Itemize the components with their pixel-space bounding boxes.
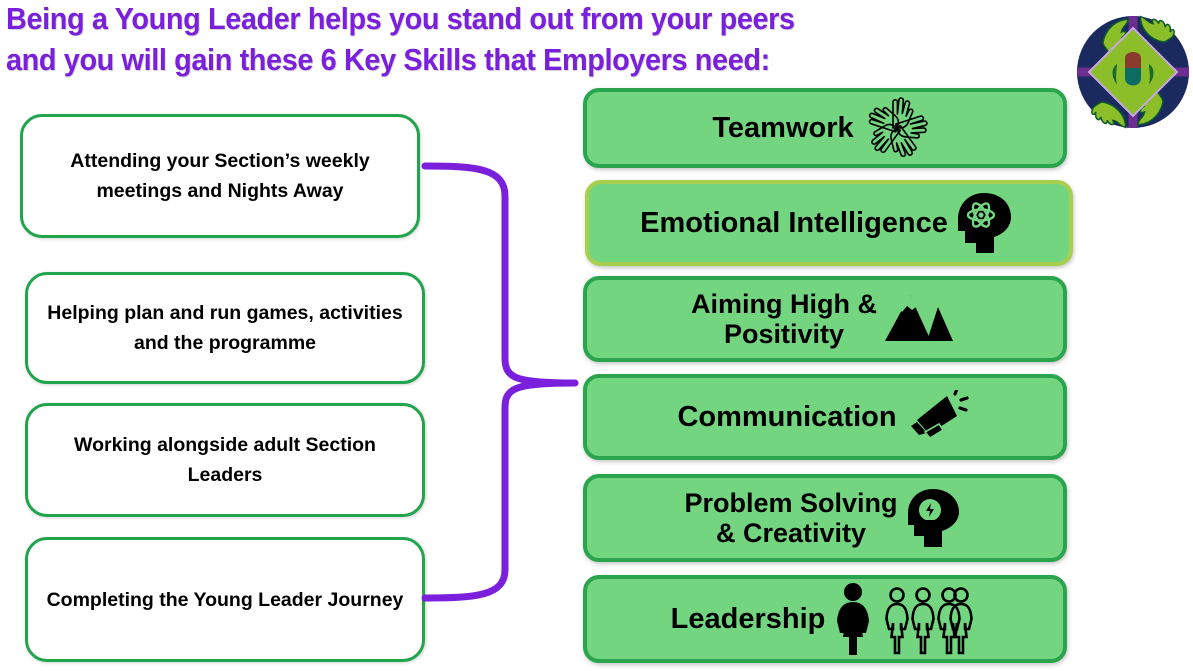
skill-label-leadership: Leadership — [671, 603, 826, 635]
skill-bar-communication[interactable]: Communication — [583, 374, 1067, 460]
activity-box-1[interactable]: Attending your Section’s weekly meetings… — [20, 114, 420, 238]
curly-brace-connector — [420, 140, 600, 620]
skill-bar-emotional-intelligence[interactable]: Emotional Intelligence — [585, 180, 1073, 266]
people-group-icon — [831, 581, 975, 657]
skill-bar-teamwork[interactable]: Teamwork — [583, 88, 1067, 168]
scouts-acorn-oak-leaf-emblem-icon — [1073, 12, 1193, 132]
head-lightbulb-icon — [904, 487, 962, 549]
skill-bar-problem-solving-creativity[interactable]: Problem Solving & Creativity — [583, 474, 1067, 562]
skill-bar-leadership[interactable]: Leadership — [583, 575, 1067, 663]
activity-box-1-label: Attending your Section’s weekly meetings… — [23, 146, 417, 206]
head-atom-icon — [954, 191, 1014, 255]
activity-box-2[interactable]: Helping plan and run games, activities a… — [25, 272, 425, 384]
skill-label-emotional-intelligence: Emotional Intelligence — [640, 207, 948, 239]
skill-label-problem-solving-creativity: Problem Solving & Creativity — [684, 488, 897, 548]
activity-box-2-label: Helping plan and run games, activities a… — [28, 298, 422, 358]
skill-label-teamwork: Teamwork — [712, 112, 853, 144]
slide-canvas: Being a Young Leader helps you stand out… — [0, 0, 1193, 671]
mountains-icon — [883, 293, 955, 345]
activity-box-4[interactable]: Completing the Young Leader Journey — [25, 537, 425, 662]
skill-bar-aiming-high-positivity[interactable]: Aiming High & Positivity — [583, 276, 1067, 362]
page-title: Being a Young Leader helps you stand out… — [6, 0, 992, 80]
hands-circle-icon — [860, 95, 934, 161]
skill-label-communication: Communication — [677, 401, 896, 433]
activity-box-3[interactable]: Working alongside adult Section Leaders — [25, 403, 425, 517]
skill-label-aiming-high-positivity: Aiming High & Positivity — [691, 289, 877, 349]
activity-box-3-label: Working alongside adult Section Leaders — [28, 430, 422, 490]
activity-box-4-label: Completing the Young Leader Journey — [31, 585, 420, 615]
megaphone-icon — [903, 390, 969, 444]
